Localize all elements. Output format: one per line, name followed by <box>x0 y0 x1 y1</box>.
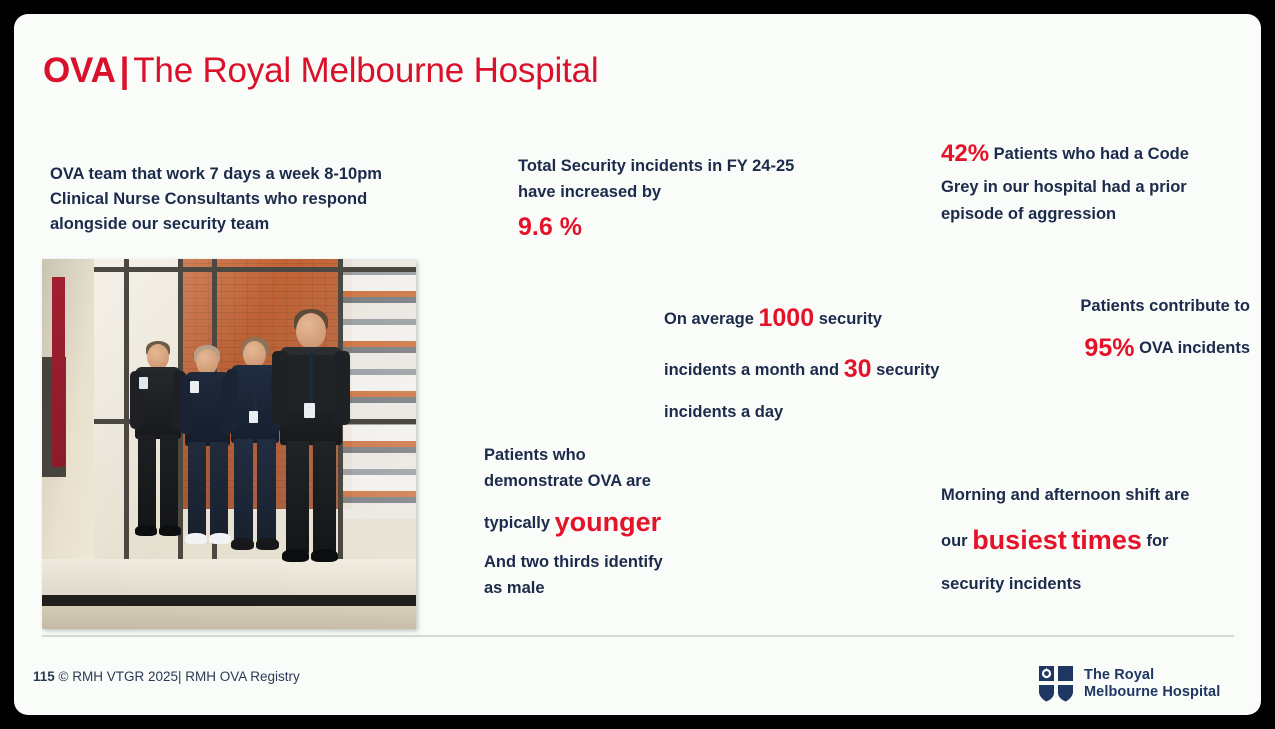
stat-average-day-value: 30 <box>844 355 872 383</box>
stat-average-incidents: On average 1000 security incidents a mon… <box>664 293 944 429</box>
stat-busiest-line2: incidents <box>1009 575 1081 593</box>
photo-mullion <box>124 259 129 559</box>
slide-canvas: OVA|The Royal Melbourne Hospital OVA tea… <box>14 14 1261 715</box>
stat-total-line1: Total Security incidents in FY 24-25 <box>518 154 878 180</box>
rmh-logo: The Royal Melbourne Hospital <box>1037 662 1237 706</box>
stat-patients-contribute: Patients contribute to 95% OVA incidents <box>1020 290 1250 373</box>
stat-code-grey: 42% Patients who had a Code Grey in our … <box>941 135 1201 227</box>
rmh-logo-line1: The Royal <box>1084 667 1220 684</box>
photo-mullion <box>92 267 416 272</box>
stat-busiest-value1: busiest <box>972 525 1067 555</box>
stat-contribute-line2: OVA incidents <box>1139 339 1250 357</box>
footer-credit: 115 © RMH VTGR 2025| RMH OVA Registry <box>33 669 300 684</box>
stat-busiest-times: Morning and afternoon shift are our busi… <box>941 479 1206 602</box>
stat-total-line2: have increased by <box>518 180 878 206</box>
stat-younger-patients: Patients who demonstrate OVA are typical… <box>484 442 754 602</box>
stat-younger-value: younger <box>555 507 662 537</box>
slide-root: OVA|The Royal Melbourne Hospital OVA tea… <box>0 0 1275 729</box>
photo-floor-shading <box>42 559 416 629</box>
footer-credit-text: © RMH VTGR 2025| RMH OVA Registry <box>59 669 300 684</box>
stat-team-text: OVA team that work 7 days a week 8-10pm … <box>50 165 382 233</box>
rmh-logo-line2: Melbourne Hospital <box>1084 684 1220 701</box>
page-title: OVA|The Royal Melbourne Hospital <box>43 52 598 91</box>
stat-average-month-value: 1000 <box>758 304 814 332</box>
stat-code-grey-value: 42% <box>941 140 989 167</box>
stat-total-incidents: Total Security incidents in FY 24-25 hav… <box>518 154 878 247</box>
stat-contribute-line1: Patients contribute to <box>1020 290 1250 323</box>
stat-younger-pre: typically <box>484 514 550 532</box>
page-title-rest: The Royal Melbourne Hospital <box>133 51 598 90</box>
stat-busiest-line1: Morning and afternoon <box>941 486 1121 504</box>
page-title-strong: OVA <box>43 51 116 90</box>
stat-busiest-value2: times <box>1071 525 1142 555</box>
rmh-logo-text: The Royal Melbourne Hospital <box>1084 667 1220 701</box>
stat-younger-line2: demonstrate OVA are <box>484 468 754 494</box>
stat-total-value: 9.6 % <box>518 209 582 247</box>
stat-younger-line1: Patients who <box>484 442 754 468</box>
footer-divider <box>42 635 1234 637</box>
stat-contribute-value: 95% <box>1084 334 1134 362</box>
team-photo <box>42 259 416 629</box>
stat-younger-line3: And two thirds identify <box>484 549 754 575</box>
stat-team-description: OVA team that work 7 days a week 8-10pm … <box>50 162 410 237</box>
stat-average-pre: On average <box>664 310 754 328</box>
page-title-separator: | <box>116 51 134 90</box>
stat-younger-line4: as male <box>484 575 754 601</box>
photo-red-stripe <box>52 277 65 467</box>
footer-page-number: 115 <box>33 669 55 684</box>
rmh-shield-icon <box>1037 664 1075 704</box>
